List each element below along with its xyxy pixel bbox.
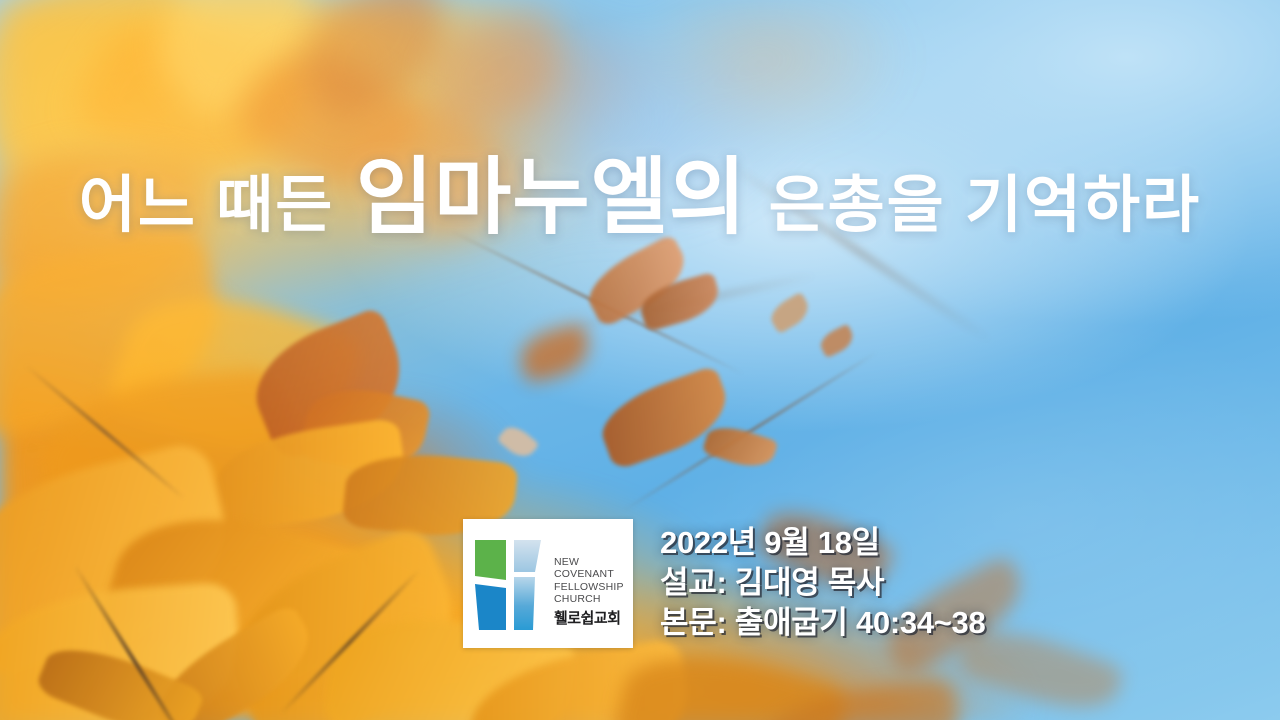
sun-bloom-background xyxy=(0,0,1280,720)
scripture-reference: 본문: 출애굽기 40:34~38 xyxy=(660,603,985,643)
sky-background xyxy=(0,0,1280,720)
page-title: 어느 때든 임마누엘의 은총을 기억하라 xyxy=(0,152,1280,243)
autumn-leaves-photo xyxy=(0,0,1280,720)
title-lead: 어느 때든 xyxy=(79,171,334,240)
church-logo-wordmark: NEW COVENANT FELLOWSHIP CHURCH 휄로쉽교회 xyxy=(554,556,633,627)
service-date: 2022년 9월 18일 xyxy=(660,523,985,563)
logo-line-fellowship: FELLOWSHIP xyxy=(554,581,633,593)
logo-line-covenant: COVENANT xyxy=(554,568,633,580)
preacher-name: 설교: 김대영 목사 xyxy=(660,563,985,603)
title-tail: 은총을 기억하라 xyxy=(769,171,1202,240)
leaf-mass-background xyxy=(0,0,1280,720)
title-emphasis: 임마누엘의 xyxy=(356,150,747,244)
photo-haze-overlay xyxy=(0,0,1280,720)
sermon-info: 2022년 9월 18일 설교: 김대영 목사 본문: 출애굽기 40:34~3… xyxy=(660,523,985,643)
logo-line-church: CHURCH xyxy=(554,593,633,605)
sermon-title-slide: 어느 때든 임마누엘의 은총을 기억하라 xyxy=(0,0,1280,720)
logo-korean-name: 휄로쉽교회 xyxy=(554,611,633,628)
church-logo-cross-icon xyxy=(473,536,547,632)
logo-line-new: NEW xyxy=(554,556,633,568)
church-logo: NEW COVENANT FELLOWSHIP CHURCH 휄로쉽교회 xyxy=(463,519,633,648)
